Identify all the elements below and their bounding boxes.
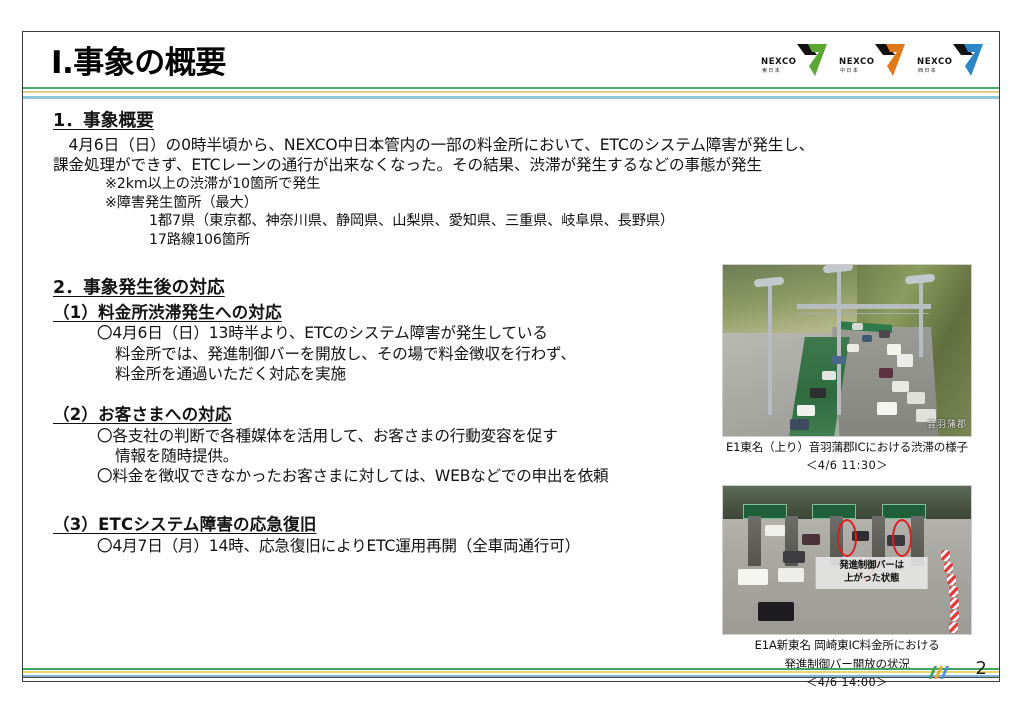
spacer: [53, 249, 733, 277]
section2-sub1-line3: 料金所を通過いただく対応を実施: [53, 364, 733, 384]
section1-para-line1: 4月6日（日）の0時半頃から、NEXCO中日本管内の一部の料金所において、ETC…: [53, 135, 733, 155]
nexco-chevron-icon: [951, 40, 985, 78]
photo-overpass-gantry: [797, 304, 931, 309]
slide-frame: Ⅰ.事象の概要 NEXCO 東日本 NEXCO 中日本: [22, 31, 1000, 682]
photo-vehicle: [810, 388, 826, 398]
nexco-region-label: 東日本: [762, 67, 781, 74]
photo-vehicle: [847, 344, 859, 352]
photo-vehicle: [822, 371, 836, 380]
traffic-cone: [944, 562, 953, 573]
highlight-circle-right: [892, 519, 912, 557]
nexco-wordmark: NEXCO: [839, 57, 875, 67]
nexco-region-label: 中日本: [840, 67, 859, 74]
traffic-cone: [947, 574, 956, 585]
traffic-cone: [949, 622, 958, 633]
photo-vehicle: [907, 392, 925, 404]
photo-vehicle: [862, 335, 872, 342]
footer-divider-rules: [23, 666, 999, 678]
section2-sub3-line1: 〇4月7日（月）14時、応急復旧によりETC運用再開（全車両通行可）: [53, 536, 733, 556]
photo-vehicle: [778, 568, 804, 582]
section2-heading: 2．事象発生後の対応: [53, 277, 733, 300]
footer-rule-yellow: [23, 671, 999, 673]
section1-note-3: 1都7県（東京都、神奈川県、静岡県、山梨県、愛知県、三重県、岐阜県、長野県）: [53, 212, 733, 230]
photo-vehicle: [797, 405, 815, 416]
photo-vehicle: [832, 356, 845, 364]
photo-vehicle: [879, 330, 890, 338]
section2-sub2-line1: 〇各支社の判断で各種媒体を活用して、お客さまの行動変容を促す: [53, 426, 733, 446]
photo-vehicle: [879, 368, 893, 378]
footer-rule-green: [23, 668, 999, 670]
photo-block-congestion: 音羽蒲郡 E1東名（上り）音羽蒲郡ICにおける渋滞の様子 ＜4/6 11:30＞: [701, 264, 993, 473]
nexco-chevron-icon: [873, 40, 907, 78]
slide-header: Ⅰ.事象の概要 NEXCO 東日本 NEXCO 中日本: [23, 32, 999, 88]
page-number: 2: [976, 658, 987, 679]
nexco-region-label: 西日本: [918, 67, 937, 74]
section2-sub1-line2: 料金所では、発進制御バーを開放し、その場で料金徴収を行わず、: [53, 344, 733, 364]
photo-street-lamp: [919, 279, 923, 358]
photo-cone-row: [939, 546, 969, 635]
nexco-logo-central: NEXCO 中日本: [839, 40, 907, 82]
photo-vehicle: [897, 354, 913, 367]
section1-note-4: 17路線106箇所: [53, 231, 733, 249]
traffic-cone: [941, 550, 950, 561]
nexco-logo-east: NEXCO 東日本: [761, 40, 829, 82]
photo-vehicle: [783, 551, 805, 563]
photo-congestion: 音羽蒲郡: [722, 264, 972, 437]
section1-para-line2: 課金処理ができず、ETCレーンの通行が出来なくなった。その結果、渋滞が発生するな…: [53, 155, 733, 175]
photo-column: 音羽蒲郡 E1東名（上り）音羽蒲郡ICにおける渋滞の様子 ＜4/6 11:30＞: [701, 264, 993, 690]
photo-vehicle: [765, 525, 785, 536]
photo-caption-time: ＜4/6 11:30＞: [701, 458, 993, 473]
photo-toll-booth: [748, 516, 761, 566]
annotation-line-2: 上がった状態: [818, 573, 926, 586]
section2-sub1-heading: （1）料金所渋滞発生への対応: [53, 302, 733, 323]
photo-vehicle: [758, 602, 794, 621]
photo-location-watermark: 音羽蒲郡: [927, 417, 967, 430]
photo-vehicle: [877, 402, 897, 415]
footer-rule-dark: [23, 677, 999, 678]
rule-blue: [23, 96, 999, 99]
photo-vehicle: [802, 534, 820, 545]
traffic-cone: [950, 598, 959, 609]
photo-annotation-callout: 発進制御バーは 上がった状態: [816, 557, 928, 588]
spacer: [53, 384, 733, 404]
section2-sub3-heading: （3）ETCシステム障害の応急復旧: [53, 514, 733, 535]
photo2-caption-line1: E1A新東名 岡崎東IC料金所における: [701, 638, 993, 653]
photo-caption-line1: E1東名（上り）音羽蒲郡ICにおける渋滞の様子: [701, 440, 993, 455]
photo-vehicle: [738, 569, 768, 585]
section2-sub2-line2: 情報を随時提供。: [53, 446, 733, 466]
section1-heading: 1．事象概要: [53, 110, 733, 133]
highlight-circle-left: [837, 519, 857, 557]
section1-note-2: ※障害発生箇所（最大）: [53, 194, 733, 212]
slide-body: 1．事象概要 4月6日（日）の0時半頃から、NEXCO中日本管内の一部の料金所に…: [53, 110, 733, 556]
section2-sub2-line3: 〇料金を徴収できなかったお客さまに対しては、WEBなどでの申出を依頼: [53, 466, 733, 486]
annotation-line-1: 発進制御バーは: [818, 560, 926, 573]
page-title: Ⅰ.事象の概要: [51, 37, 226, 82]
section2-sub1-line1: 〇4月6日（日）13時半より、ETCのシステム障害が発生している: [53, 323, 733, 343]
photo-vehicle: [852, 323, 863, 330]
nexco-logo-west: NEXCO 西日本: [917, 40, 985, 82]
section2-sub2-heading: （2）お客さまへの対応: [53, 404, 733, 425]
nexco-logo-group: NEXCO 東日本 NEXCO 中日本 NEXCO 西日本: [761, 40, 985, 82]
photo-tollgate: 発進制御バーは 上がった状態: [722, 485, 972, 635]
photo-block-tollgate: 発進制御バーは 上がった状態 E1A新東名 岡崎東IC料金所における 発進制御バ…: [701, 485, 993, 690]
spacer: [53, 486, 733, 514]
photo-street-lamp: [768, 282, 772, 415]
photo-vehicle: [892, 381, 909, 392]
nexco-wordmark: NEXCO: [917, 57, 953, 67]
nexco-chevron-icon: [795, 40, 829, 78]
nexco-wordmark: NEXCO: [761, 57, 797, 67]
section1-note-1: ※2km以上の渋滞が10箇所で発生: [53, 175, 733, 193]
footer-slash-accent: [929, 666, 955, 679]
traffic-cone: [949, 586, 958, 597]
photo-vehicle: [790, 419, 809, 430]
photo-street-lamp: [837, 268, 841, 415]
traffic-cone: [950, 610, 959, 621]
header-divider-rules: [23, 87, 999, 101]
